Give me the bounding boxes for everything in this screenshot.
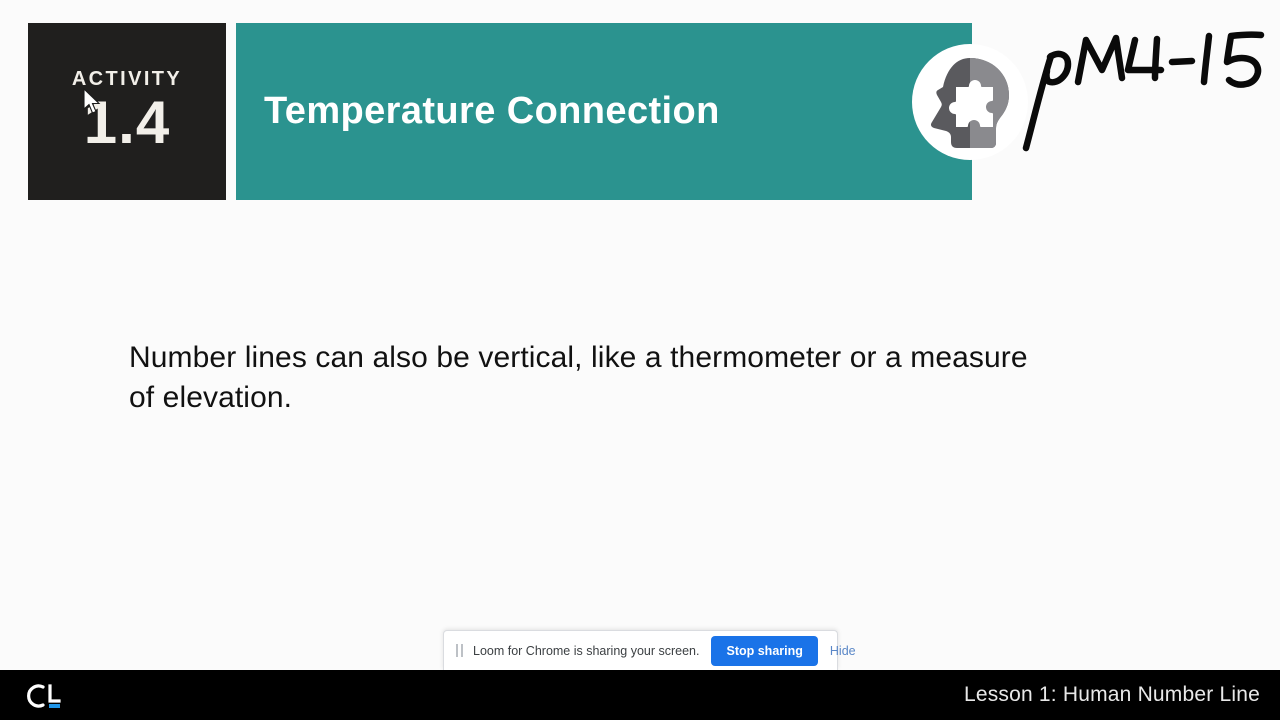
mouse-pointer-cursor xyxy=(82,88,104,116)
handwritten-annotation xyxy=(1006,26,1276,158)
hide-button[interactable]: Hide xyxy=(830,644,856,658)
page-title: Temperature Connection xyxy=(264,90,720,133)
slide-body-text: Number lines can also be vertical, like … xyxy=(129,338,1059,417)
drag-grip-icon[interactable] xyxy=(456,644,463,657)
stop-sharing-button[interactable]: Stop sharing xyxy=(711,636,817,666)
presentation-slide: ACTIVITY 1.4 Temperature Connection xyxy=(0,0,1280,720)
cl-logo xyxy=(26,681,66,711)
lesson-title-label: Lesson 1: Human Number Line xyxy=(964,670,1260,720)
title-banner: Temperature Connection xyxy=(236,23,972,200)
screen-sharing-bar: Loom for Chrome is sharing your screen. … xyxy=(443,630,838,670)
activity-word-label: ACTIVITY xyxy=(72,69,182,89)
activity-badge: ACTIVITY 1.4 xyxy=(28,23,226,200)
puzzle-head-icon xyxy=(910,42,1030,162)
sharing-status-text: Loom for Chrome is sharing your screen. xyxy=(473,644,699,658)
